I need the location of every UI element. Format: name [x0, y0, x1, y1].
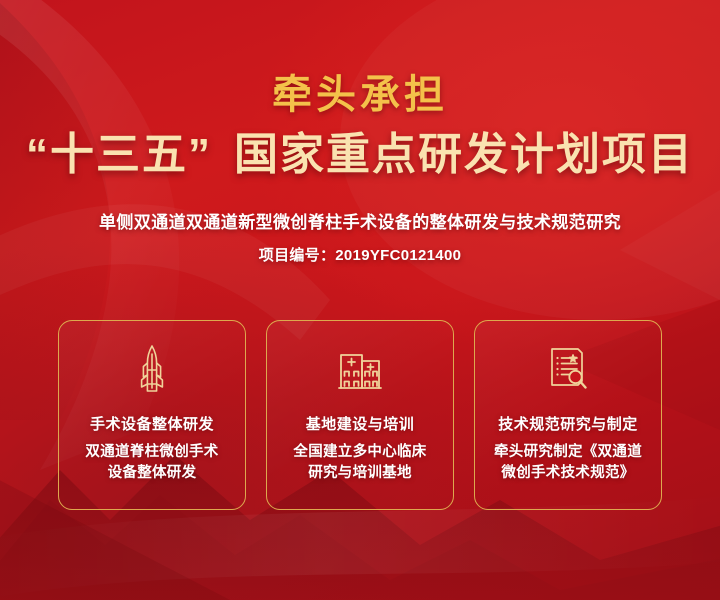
- feature-card-description-line: 研究与培训基地: [276, 463, 444, 484]
- feature-card-description: 牵头研究制定《双通道 微创手术技术规范》: [484, 442, 652, 484]
- feature-card-title: 手术设备整体研发: [90, 413, 214, 434]
- feature-card[interactable]: 基地建设与培训 全国建立多中心临床 研究与培训基地: [266, 320, 454, 510]
- feature-card-description-line: 全国建立多中心临床: [276, 442, 444, 463]
- page-title-secondary-rest: 国家重点研发计划项目: [234, 130, 694, 179]
- rocket-icon: [129, 343, 175, 395]
- project-subtitle: 单侧双通道双通道新型微创脊柱手术设备的整体研发与技术规范研究: [0, 208, 720, 233]
- feature-card-description: 双通道脊柱微创手术 设备整体研发: [68, 442, 236, 484]
- page-title-primary: 牵头承担: [0, 72, 720, 118]
- document-search-icon: [545, 343, 591, 395]
- poster-header: 牵头承担 “十三五”国家重点研发计划项目: [0, 72, 720, 181]
- feature-card-description-line: 牵头研究制定《双通道: [484, 442, 652, 463]
- feature-card-list: 手术设备整体研发 双通道脊柱微创手术 设备整体研发: [58, 320, 662, 510]
- hospital-building-icon: [337, 343, 383, 395]
- feature-card-description: 全国建立多中心临床 研究与培训基地: [276, 442, 444, 484]
- feature-card-description-line: 微创手术技术规范》: [484, 463, 652, 484]
- feature-card-title: 技术规范研究与制定: [498, 413, 638, 434]
- feature-card-title: 基地建设与培训: [306, 413, 415, 434]
- page-title-secondary: “十三五”国家重点研发计划项目: [0, 130, 720, 181]
- feature-card-description-line: 双通道脊柱微创手术: [68, 442, 236, 463]
- feature-card[interactable]: 技术规范研究与制定 牵头研究制定《双通道 微创手术技术规范》: [474, 320, 662, 510]
- project-number: 项目编号：2019YFC0121400: [0, 244, 720, 265]
- poster-root: 牵头承担 “十三五”国家重点研发计划项目 单侧双通道双通道新型微创脊柱手术设备的…: [0, 0, 720, 600]
- page-title-quoted-term: “十三五”: [26, 130, 212, 179]
- feature-card[interactable]: 手术设备整体研发 双通道脊柱微创手术 设备整体研发: [58, 320, 246, 510]
- feature-card-description-line: 设备整体研发: [68, 463, 236, 484]
